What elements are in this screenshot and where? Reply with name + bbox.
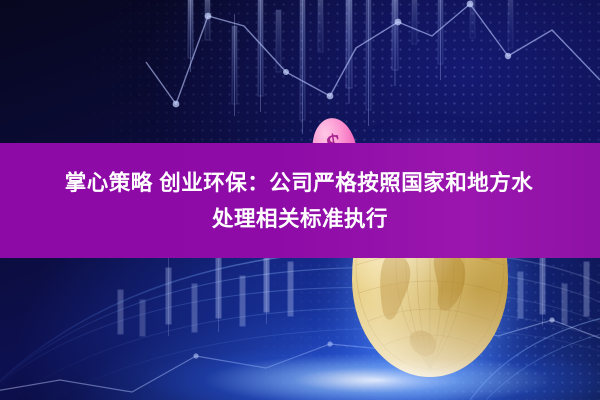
headline-line-1: 掌心策略 创业环保：公司严格按照国家和地方水 [65, 165, 535, 201]
banner-image: $ $ 掌心策略 创业环保：公司严格按照国家和地方水 处理相关标准执行 [0, 0, 600, 400]
headline: 掌心策略 创业环保：公司严格按照国家和地方水 处理相关标准执行 [0, 143, 600, 258]
headline-line-2: 处理相关标准执行 [212, 201, 388, 237]
